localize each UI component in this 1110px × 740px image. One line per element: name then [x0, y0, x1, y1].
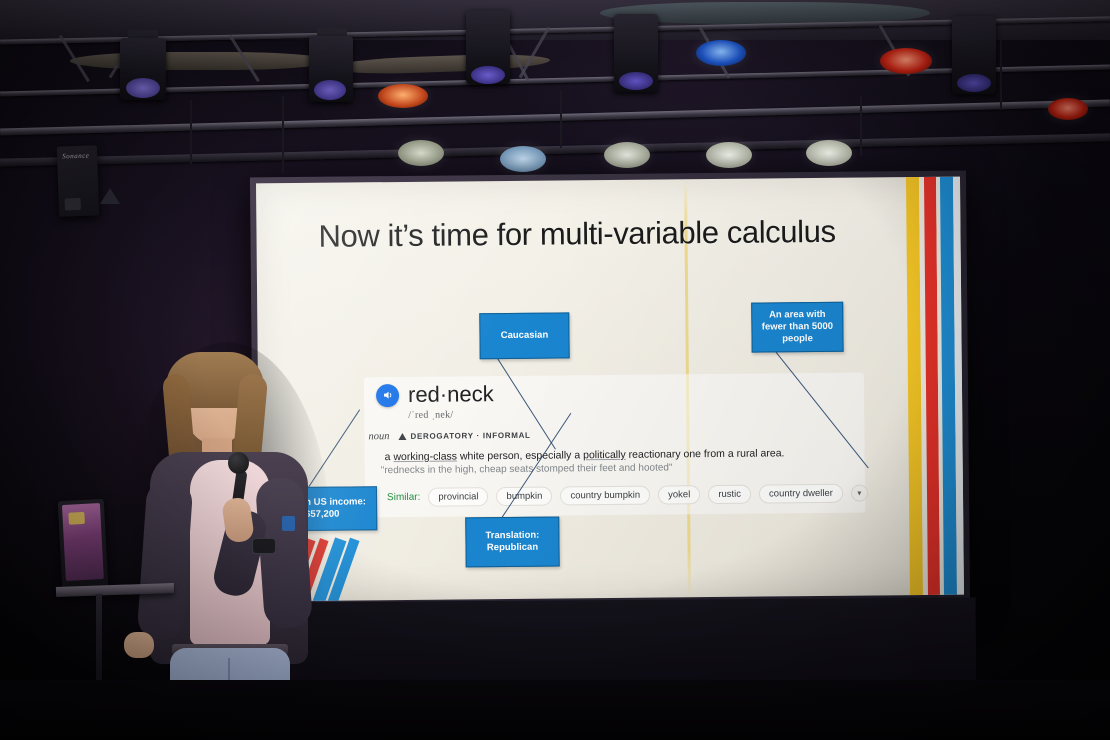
similar-chip[interactable]: rustic — [708, 485, 751, 504]
stage-wash-light — [706, 142, 752, 168]
definition-link-working-class[interactable]: working-class — [393, 450, 457, 463]
lighting-truss — [0, 0, 1110, 180]
chevron-down-icon[interactable]: ▾ — [851, 485, 868, 502]
pa-speaker-cabinet: Sonance — [57, 145, 99, 216]
cable — [860, 96, 916, 156]
table-leg — [96, 594, 102, 682]
par-led-light — [696, 40, 746, 66]
laptop — [58, 499, 109, 589]
par-led-light — [1048, 98, 1088, 120]
projected-slide: Now it’s time for multi-variable calculu… — [256, 177, 964, 602]
microphone-head — [228, 452, 249, 474]
similar-chip[interactable]: yokel — [658, 485, 700, 504]
slide-accent-stripes — [906, 177, 964, 595]
speaker-brand-label: Sonance — [62, 152, 89, 161]
cable — [560, 90, 612, 148]
warning-sign — [100, 188, 120, 204]
similar-chip[interactable]: provincial — [428, 487, 488, 507]
stage-wash-light — [500, 146, 546, 172]
similar-chip[interactable]: country dweller — [759, 484, 843, 504]
projection-screen-frame: Now it’s time for multi-variable calculu… — [250, 171, 970, 608]
part-of-speech: noun — [368, 431, 389, 442]
stage-wash-light — [806, 140, 852, 166]
stage-wash-light — [398, 140, 444, 166]
callout-caucasian[interactable]: Caucasian — [479, 312, 569, 359]
definition-mid: white person, especially a — [457, 449, 583, 462]
register-labels: DEROGATORY · INFORMAL — [410, 431, 530, 441]
laptop-screen — [62, 503, 104, 581]
left-hand — [124, 632, 154, 658]
dictionary-pos-row: noun DEROGATORY · INFORMAL — [368, 430, 530, 443]
photo-scene: Sonance Now — [0, 0, 1110, 740]
lapel-pin — [282, 516, 295, 531]
dictionary-phonetic: /ˈred ˌnek/ — [408, 410, 453, 421]
air-duct — [70, 52, 330, 70]
callout-translation[interactable]: Translation: Republican — [465, 516, 559, 567]
similar-chip[interactable]: country bumpkin — [560, 486, 650, 506]
cable — [282, 96, 344, 174]
slide-title: Now it’s time for multi-variable calculu… — [318, 213, 878, 254]
definition-link-politically[interactable]: politically — [583, 449, 626, 461]
par-led-light — [880, 48, 932, 74]
wristwatch — [252, 538, 276, 554]
stage-wash-light — [604, 142, 650, 168]
callout-rural-area[interactable]: An area with fewer than 5000 people — [751, 302, 843, 353]
stage-floor — [0, 680, 1110, 740]
dictionary-word: red·neck — [408, 381, 494, 408]
definition-pre: a — [385, 451, 394, 463]
register-labels-row: DEROGATORY · INFORMAL — [398, 431, 530, 441]
par-led-light — [378, 84, 428, 108]
truss-beam — [0, 133, 1110, 166]
speaker-icon[interactable] — [376, 384, 399, 407]
dictionary-headword-row: red·neck — [376, 381, 494, 408]
warning-triangle-icon — [398, 433, 406, 440]
definition-post: reactionary one from a rural area. — [626, 447, 785, 461]
truss-beam — [0, 99, 1110, 135]
similar-chip[interactable]: bumpkin — [496, 487, 552, 507]
similar-label: Similar: — [387, 492, 420, 503]
cable — [1000, 40, 1046, 110]
laptop-screen-element — [68, 512, 85, 525]
